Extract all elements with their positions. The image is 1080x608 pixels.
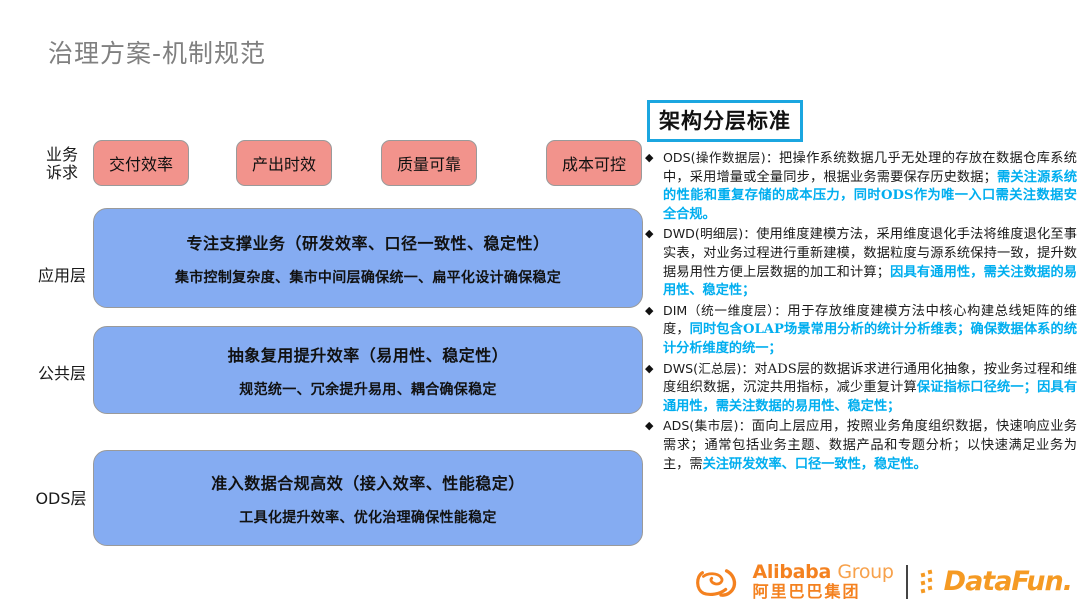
layering-standard-panel: 架构分层标准 ◆ODS(操作数据层)：把操作系统数据几乎无处理的存放在数据仓库系… [645, 100, 1077, 475]
alibaba-name-cn: 阿里巴巴集团 [753, 584, 894, 600]
diamond-bullet-icon: ◆ [645, 302, 653, 321]
alibaba-name-en: Alibaba Group [753, 563, 894, 582]
bullet-term: ODS(操作数据层)： [663, 150, 779, 165]
layer-box-public-main: 抽象复用提升效率（易用性、稳定性） [228, 342, 509, 366]
row-label-public-layer: 公共层 [26, 365, 98, 383]
architecture-diagram: 业务 诉求 应用层 公共层 ODS层 交付效率 产出时效 质量可靠 成本可控 专… [0, 100, 655, 560]
bullet-term: DIM（统一维度层）： [663, 303, 787, 318]
layer-box-ods[interactable]: 准入数据合规高效（接入效率、性能稳定） 工具化提升效率、优化治理确保性能稳定 [93, 450, 643, 546]
demand-box-cost-controllable[interactable]: 成本可控 [546, 140, 642, 186]
layering-standard-header: 架构分层标准 [647, 100, 803, 142]
layering-standard-bullet-list: ◆ODS(操作数据层)：把操作系统数据几乎无处理的存放在数据仓库系统中，采用增量… [645, 149, 1077, 474]
bullet-highlight-text: 同时包含OLAP场景常用分析的统计分析维表；确保数据体系的统计分析维度的统一； [663, 322, 1077, 356]
layer-bullet-ods: ◆ODS(操作数据层)：把操作系统数据几乎无处理的存放在数据仓库系统中，采用增量… [645, 149, 1077, 224]
layer-box-ods-main: 准入数据合规高效（接入效率、性能稳定） [211, 470, 525, 494]
layer-box-application[interactable]: 专注支撑业务（研发效率、口径一致性、稳定性） 集市控制复杂度、集市中间层确保统一… [93, 208, 643, 308]
diamond-bullet-icon: ◆ [645, 225, 653, 244]
layer-bullet-ads: ◆ADS(集市层)：面向上层应用，按照业务角度组织数据，快速响应业务需求；通常包… [645, 417, 1077, 474]
layer-bullet-dws: ◆DWS(汇总层)：对ADS层的数据诉求进行通用化抽象，按业务过程和维度组织数据… [645, 360, 1077, 417]
footer: Alibaba Group 阿里巴巴集团 DataFun. [0, 556, 1080, 604]
layer-box-application-sub: 集市控制复杂度、集市中间层确保统一、扁平化设计确保稳定 [175, 267, 561, 287]
logo-group: Alibaba Group 阿里巴巴集团 DataFun. [695, 563, 1073, 600]
layer-box-ods-sub: 工具化提升效率、优化治理确保性能稳定 [239, 507, 496, 527]
logo-divider [906, 565, 908, 599]
diamond-bullet-icon: ◆ [645, 360, 653, 379]
demand-box-output-timeliness[interactable]: 产出时效 [236, 140, 332, 186]
layer-bullet-dim: ◆DIM（统一维度层）：用于存放维度建模方法中核心构建总线矩阵的维度，同时包含O… [645, 302, 1077, 359]
bullet-highlight-text: 关注研发效率、口径一致性，稳定性。 [703, 457, 927, 472]
demand-box-delivery-efficiency[interactable]: 交付效率 [93, 140, 189, 186]
alibaba-mark-icon [695, 565, 747, 599]
diamond-bullet-icon: ◆ [645, 149, 653, 168]
demand-box-quality-reliable[interactable]: 质量可靠 [381, 140, 477, 186]
datafun-logo: DataFun. [920, 566, 1072, 597]
datafun-wordmark: DataFun. [944, 566, 1072, 597]
layer-box-public[interactable]: 抽象复用提升效率（易用性、稳定性） 规范统一、冗余提升易用、耦合确保稳定 [93, 326, 643, 414]
row-label-business-demand: 业务 诉求 [26, 146, 98, 183]
layer-box-application-main: 专注支撑业务（研发效率、口径一致性、稳定性） [186, 230, 549, 254]
alibaba-en-main: Alibaba [753, 561, 831, 583]
alibaba-en-group: Group [837, 561, 893, 583]
row-label-application-layer: 应用层 [26, 267, 98, 285]
datafun-dots-icon [920, 569, 942, 595]
diamond-bullet-icon: ◆ [645, 417, 653, 436]
slide-canvas: 治理方案-机制规范 业务 诉求 应用层 公共层 ODS层 交付效率 产出时效 质… [0, 0, 1080, 608]
bullet-term: DWS(汇总层)： [663, 361, 754, 376]
alibaba-logo: Alibaba Group 阿里巴巴集团 [695, 563, 894, 600]
business-demand-row: 交付效率 产出时效 质量可靠 成本可控 [93, 140, 643, 186]
bullet-term: ADS(集市层)： [663, 418, 752, 433]
layer-bullet-dwd: ◆DWD(明细层)：使用维度建模方法，采用维度退化手法将维度退化至事实表，对业务… [645, 225, 1077, 300]
layer-box-public-sub: 规范统一、冗余提升易用、耦合确保稳定 [239, 379, 496, 399]
bullet-term: DWD(明细层)： [663, 226, 756, 241]
page-title: 治理方案-机制规范 [48, 34, 266, 70]
row-label-ods-layer: ODS层 [18, 490, 104, 508]
alibaba-wordmark: Alibaba Group 阿里巴巴集团 [753, 563, 894, 600]
